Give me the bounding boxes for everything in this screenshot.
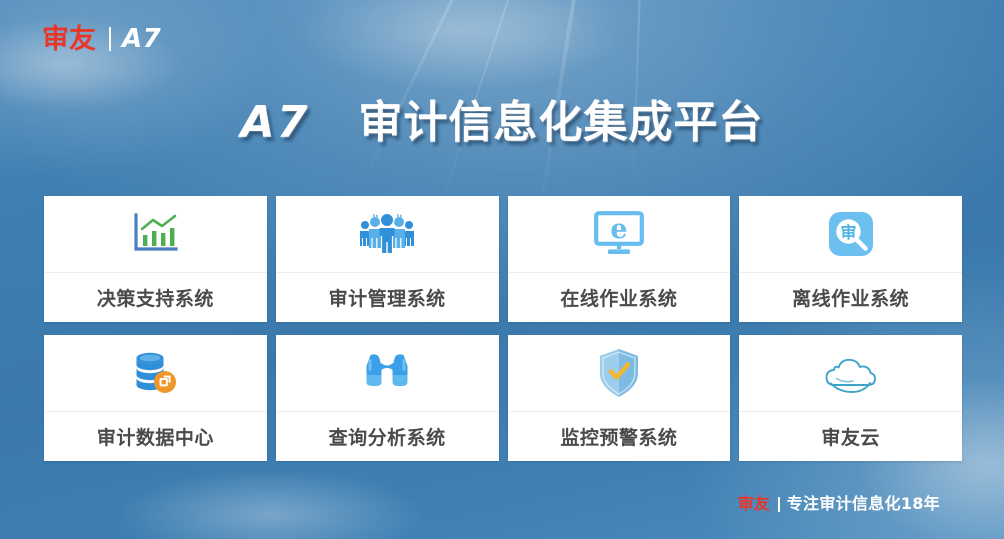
card-icon-area bbox=[44, 335, 267, 412]
svg-text:e: e bbox=[610, 214, 627, 245]
page-title-prefix: A7 bbox=[241, 97, 310, 148]
svg-text:审: 审 bbox=[840, 223, 856, 242]
module-card-grid: 决策支持系统 bbox=[44, 196, 962, 461]
module-card-audit-management[interactable]: 审计管理系统 bbox=[276, 196, 499, 322]
footer-brand: 审友 专注审计信息化18年 bbox=[738, 493, 940, 515]
brand-logo-product: A7 bbox=[122, 26, 161, 52]
binoculars-icon bbox=[363, 350, 411, 396]
cloud-wisp-decoration bbox=[120, 470, 420, 539]
module-card-label: 审计数据中心 bbox=[44, 412, 267, 461]
cloud-wisp-decoration bbox=[300, 0, 620, 90]
brand-logo-divider bbox=[109, 27, 111, 51]
module-card-label: 在线作业系统 bbox=[508, 273, 731, 322]
footer-divider bbox=[778, 497, 780, 512]
brand-logo-mark: 审友 bbox=[42, 26, 96, 53]
footer-brand-mark: 审友 bbox=[738, 496, 770, 512]
module-card-shenyou-cloud[interactable]: 审友云 bbox=[739, 335, 962, 461]
brand-logo: 审友 A7 bbox=[42, 22, 161, 56]
page-title-main: 审计信息化集成平台 bbox=[358, 97, 763, 148]
card-icon-area: 审 bbox=[739, 196, 962, 273]
module-card-online-work[interactable]: e 在线作业系统 bbox=[508, 196, 731, 322]
footer-tagline: 专注审计信息化18年 bbox=[787, 496, 940, 512]
card-icon-area bbox=[44, 196, 267, 273]
database-cylinder-icon bbox=[131, 349, 179, 397]
module-card-data-center[interactable]: 审计数据中心 bbox=[44, 335, 267, 461]
module-card-label: 查询分析系统 bbox=[276, 412, 499, 461]
module-card-query-analysis[interactable]: 查询分析系统 bbox=[276, 335, 499, 461]
people-group-icon bbox=[358, 212, 416, 256]
module-card-label: 离线作业系统 bbox=[739, 273, 962, 322]
module-card-offline-work[interactable]: 审 离线作业系统 bbox=[739, 196, 962, 322]
module-card-label: 审友云 bbox=[739, 412, 962, 461]
module-card-decision-support[interactable]: 决策支持系统 bbox=[44, 196, 267, 322]
card-icon-area bbox=[508, 335, 731, 412]
card-icon-area bbox=[276, 335, 499, 412]
monitor-browser-e-icon: e bbox=[594, 211, 644, 257]
slide-canvas: 审友 A7 A7 审计信息化集成平台 bbox=[0, 0, 1004, 539]
app-magnifier-shen-icon: 审 bbox=[828, 211, 874, 257]
bar-line-chart-icon bbox=[131, 212, 179, 256]
card-icon-area bbox=[739, 335, 962, 412]
shield-check-icon bbox=[598, 348, 640, 398]
page-title-spacer bbox=[326, 97, 342, 148]
card-icon-area bbox=[276, 196, 499, 273]
module-card-label: 监控预警系统 bbox=[508, 412, 731, 461]
module-card-label: 决策支持系统 bbox=[44, 273, 267, 322]
card-icon-area: e bbox=[508, 196, 731, 273]
module-card-label: 审计管理系统 bbox=[276, 273, 499, 322]
module-card-monitoring-alert[interactable]: 监控预警系统 bbox=[508, 335, 731, 461]
cloud-outline-icon bbox=[823, 352, 879, 394]
page-title: A7 审计信息化集成平台 bbox=[0, 86, 1004, 150]
